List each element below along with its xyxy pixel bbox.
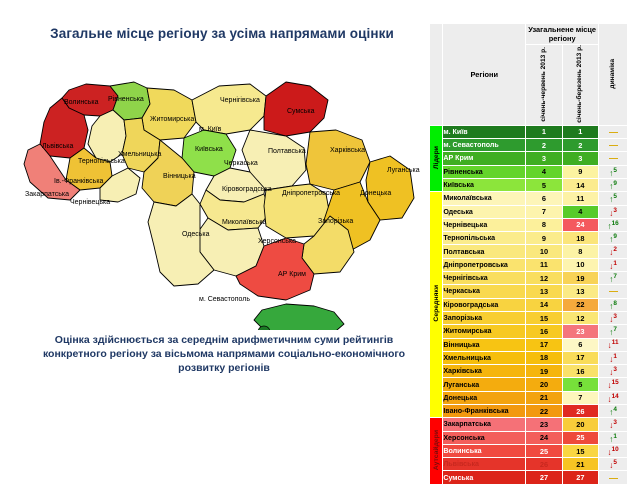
rank-jan-mar-cell: 6 xyxy=(562,338,598,351)
rank-jan-jun-cell: 13 xyxy=(526,285,562,298)
region-name-cell[interactable]: Рівненська xyxy=(443,165,526,178)
rank-jan-mar-cell: 20 xyxy=(562,418,598,431)
group-label-0: Лідери xyxy=(430,125,443,191)
rank-jan-mar-cell: 2 xyxy=(562,139,598,152)
dynamics-value: 4 xyxy=(613,406,617,413)
page-title: Загальне місце регіону за усіма напрямам… xyxy=(24,26,420,41)
rank-jan-jun-cell: 22 xyxy=(526,404,562,417)
header-row-1: Регіони Узагальнене місце регіону динамі… xyxy=(430,24,628,45)
rank-jan-jun-cell: 7 xyxy=(526,205,562,218)
rank-jan-jun-cell: 14 xyxy=(526,298,562,311)
dynamics-value: 5 xyxy=(613,167,617,174)
dynamics-cell: ↑9 xyxy=(599,232,628,245)
rank-jan-mar-cell: 10 xyxy=(562,258,598,271)
header-regions: Регіони xyxy=(443,24,526,126)
dynamics-cell: ↓3 xyxy=(599,311,628,324)
rank-jan-jun-cell: 8 xyxy=(526,218,562,231)
header-generalized-place: Узагальнене місце регіону xyxy=(526,24,599,45)
rank-jan-jun-cell: 25 xyxy=(526,444,562,457)
dynamics-cell: ↑5 xyxy=(599,165,628,178)
dynamics-cell: ↓14 xyxy=(599,391,628,404)
dynamics-value: 1 xyxy=(613,433,617,440)
group-label-1: Середняки xyxy=(430,192,443,418)
methodology-note: Оцінка здійснюється за середнім арифмети… xyxy=(22,333,426,375)
table-row[interactable]: Київська514↑9 xyxy=(430,178,628,191)
dynamics-value: 11 xyxy=(612,339,619,346)
dynamics-value: 14 xyxy=(612,393,619,400)
region-name-cell[interactable]: Київська xyxy=(443,178,526,191)
dynamics-cell: ↓3 xyxy=(599,365,628,378)
dynamics-cell: ↑16 xyxy=(599,218,628,231)
dynamics-value: 1 xyxy=(613,353,617,360)
table-head: Регіони Узагальнене місце регіону динамі… xyxy=(430,24,628,126)
region-name-cell[interactable]: Хмельницька xyxy=(443,351,526,364)
ukraine-choropleth-map xyxy=(14,60,426,330)
header-group-spacer xyxy=(430,24,443,126)
dynamics-value: 8 xyxy=(613,300,617,307)
equal-icon: — xyxy=(609,286,617,296)
table-row[interactable]: Черкаська1313— xyxy=(430,285,628,298)
rank-jan-jun-cell: 6 xyxy=(526,192,562,205)
rank-jan-mar-cell: 26 xyxy=(562,404,598,417)
rank-jan-mar-cell: 15 xyxy=(562,444,598,457)
equal-icon: — xyxy=(609,127,617,137)
table-row[interactable]: Херсонська2425↑1 xyxy=(430,431,628,444)
equal-icon: — xyxy=(609,140,617,150)
rank-jan-jun-cell: 27 xyxy=(526,471,562,484)
rank-jan-jun-cell: 2 xyxy=(526,139,562,152)
dynamics-value: 9 xyxy=(613,180,617,187)
dynamics-cell: ↑7 xyxy=(599,272,628,285)
rank-jan-mar-cell: 3 xyxy=(562,152,598,165)
rank-jan-mar-cell: 12 xyxy=(562,311,598,324)
dynamics-value: 3 xyxy=(613,207,617,214)
dynamics-cell: ↓3 xyxy=(599,418,628,431)
table-row[interactable]: Дніпропетровська1110↓1 xyxy=(430,258,628,271)
region-name-cell[interactable]: Одеська xyxy=(443,205,526,218)
dynamics-cell: ↓10 xyxy=(599,444,628,457)
rank-jan-mar-cell: 23 xyxy=(562,325,598,338)
rank-jan-jun-cell: 20 xyxy=(526,378,562,391)
dynamics-value: 9 xyxy=(613,233,617,240)
rank-jan-mar-cell: 21 xyxy=(562,458,598,471)
dynamics-cell: ↓11 xyxy=(599,338,628,351)
dynamics-cell: ↑8 xyxy=(599,298,628,311)
rank-jan-mar-cell: 27 xyxy=(562,471,598,484)
rank-jan-jun-cell: 23 xyxy=(526,418,562,431)
region-ar-krym[interactable] xyxy=(254,304,344,330)
dynamics-cell: ↑5 xyxy=(599,192,628,205)
table-row[interactable]: Волинська2515↓10 xyxy=(430,444,628,457)
rank-jan-jun-cell: 4 xyxy=(526,165,562,178)
region-name-cell[interactable]: Вінницька xyxy=(443,338,526,351)
dynamics-cell: ↑9 xyxy=(599,178,628,191)
table-row[interactable]: Чернігівська1219↑7 xyxy=(430,272,628,285)
rank-jan-jun-cell: 1 xyxy=(526,125,562,138)
dynamics-value: 1 xyxy=(613,260,617,267)
region-name-cell[interactable]: Луганська xyxy=(443,378,526,391)
region-name-cell[interactable]: Херсонська xyxy=(443,431,526,444)
dynamics-value: 5 xyxy=(613,459,617,466)
table-row[interactable]: Полтавська108↓2 xyxy=(430,245,628,258)
rank-jan-mar-cell: 8 xyxy=(562,245,598,258)
rank-jan-mar-cell: 7 xyxy=(562,391,598,404)
region-name-cell[interactable]: Волинська xyxy=(443,444,526,457)
dynamics-value: 2 xyxy=(613,246,617,253)
table-row[interactable]: Івано-Франківська2226↑4 xyxy=(430,404,628,417)
rank-jan-jun-cell: 12 xyxy=(526,272,562,285)
region-name-cell[interactable]: Харківська xyxy=(443,365,526,378)
rank-jan-jun-cell: 16 xyxy=(526,325,562,338)
region-name-cell[interactable]: Миколаївська xyxy=(443,192,526,205)
equal-icon: — xyxy=(609,153,617,163)
region-name-cell[interactable]: Чернівецька xyxy=(443,218,526,231)
rank-jan-jun-cell: 26 xyxy=(526,458,562,471)
table-row[interactable]: Харківська1916↓3 xyxy=(430,365,628,378)
region-name-cell[interactable]: м. Севастополь xyxy=(443,139,526,152)
dynamics-cell: ↑7 xyxy=(599,325,628,338)
region-name-cell[interactable]: Тернопільська xyxy=(443,232,526,245)
rank-jan-mar-cell: 1 xyxy=(562,125,598,138)
dynamics-value: 16 xyxy=(612,220,619,227)
table-row[interactable]: Донецька217↓14 xyxy=(430,391,628,404)
rank-jan-jun-cell: 17 xyxy=(526,338,562,351)
rank-jan-jun-cell: 3 xyxy=(526,152,562,165)
dynamics-cell: — xyxy=(599,471,628,484)
table-row[interactable]: Чернівецька824↑16 xyxy=(430,218,628,231)
table-row[interactable]: м. Севастополь22— xyxy=(430,139,628,152)
table-row[interactable]: Тернопільська918↑9 xyxy=(430,232,628,245)
rank-jan-mar-cell: 4 xyxy=(562,205,598,218)
rank-jan-mar-cell: 5 xyxy=(562,378,598,391)
rank-jan-mar-cell: 22 xyxy=(562,298,598,311)
dynamics-cell: ↓2 xyxy=(599,245,628,258)
table-row[interactable]: Львівська2621↓5 xyxy=(430,458,628,471)
dynamics-cell: — xyxy=(599,125,628,138)
regions-ranking-table: Регіони Узагальнене місце регіону динамі… xyxy=(429,23,628,485)
table-row[interactable]: Рівненська49↑5 xyxy=(430,165,628,178)
table-row[interactable]: Лідерим. Київ11— xyxy=(430,125,628,138)
dynamics-value: 7 xyxy=(613,273,617,280)
rank-jan-mar-cell: 9 xyxy=(562,165,598,178)
rank-jan-mar-cell: 17 xyxy=(562,351,598,364)
header-dynamics: динаміка xyxy=(599,24,628,126)
region-name-cell[interactable]: Закарпатська xyxy=(443,418,526,431)
dynamics-cell: ↓5 xyxy=(599,458,628,471)
region-name-cell[interactable]: Кіровоградська xyxy=(443,298,526,311)
table-row[interactable]: Запорізька1512↓3 xyxy=(430,311,628,324)
region-sumska[interactable] xyxy=(264,82,328,136)
slide-root: Загальне місце регіону за усіма напрямам… xyxy=(0,0,640,452)
rank-jan-mar-cell: 11 xyxy=(562,192,598,205)
region-kharkivska[interactable] xyxy=(306,130,370,190)
dynamics-cell: — xyxy=(599,285,628,298)
dynamics-cell: ↓1 xyxy=(599,351,628,364)
region-name-cell[interactable]: Львівська xyxy=(443,458,526,471)
rank-jan-mar-cell: 24 xyxy=(562,218,598,231)
map-svg xyxy=(14,60,426,330)
region-name-cell[interactable]: Чернігівська xyxy=(443,272,526,285)
rank-jan-jun-cell: 9 xyxy=(526,232,562,245)
table-row[interactable]: Хмельницька1817↓1 xyxy=(430,351,628,364)
group-label-2: Аутсайдери xyxy=(430,418,443,484)
rank-jan-mar-cell: 13 xyxy=(562,285,598,298)
region-ternopilska[interactable] xyxy=(88,110,126,162)
table-row[interactable]: СереднякиМиколаївська611↑5 xyxy=(430,192,628,205)
region-name-cell[interactable]: Івано-Франківська xyxy=(443,404,526,417)
rank-jan-jun-cell: 24 xyxy=(526,431,562,444)
region-name-cell[interactable]: Полтавська xyxy=(443,245,526,258)
table-row[interactable]: АР Крим33— xyxy=(430,152,628,165)
rank-jan-jun-cell: 18 xyxy=(526,351,562,364)
rank-jan-mar-cell: 19 xyxy=(562,272,598,285)
region-name-cell[interactable]: Сумська xyxy=(443,471,526,484)
dynamics-cell: ↓1 xyxy=(599,258,628,271)
dynamics-value: 3 xyxy=(613,366,617,373)
header-period-1-label: січень-червень 2013 р. xyxy=(540,47,548,122)
table-row[interactable]: Вінницька176↓11 xyxy=(430,338,628,351)
region-name-cell[interactable]: м. Київ xyxy=(443,125,526,138)
rank-jan-mar-cell: 25 xyxy=(562,431,598,444)
dynamics-value: 3 xyxy=(613,419,617,426)
rank-jan-jun-cell: 19 xyxy=(526,365,562,378)
region-name-cell[interactable]: Черкаська xyxy=(443,285,526,298)
table-row[interactable]: Одеська74↓3 xyxy=(430,205,628,218)
region-chernihivska[interactable] xyxy=(192,84,266,134)
region-zhytomyrska[interactable] xyxy=(142,88,196,140)
table-row[interactable]: Сумська2727— xyxy=(430,471,628,484)
dynamics-cell: ↓15 xyxy=(599,378,628,391)
dynamics-cell: ↑4 xyxy=(599,404,628,417)
header-period-1: січень-червень 2013 р. xyxy=(526,45,562,126)
rank-jan-mar-cell: 18 xyxy=(562,232,598,245)
dynamics-value: 5 xyxy=(613,193,617,200)
region-name-cell[interactable]: Запорізька xyxy=(443,311,526,324)
region-name-cell[interactable]: АР Крим xyxy=(443,152,526,165)
rank-jan-jun-cell: 15 xyxy=(526,311,562,324)
equal-icon: — xyxy=(609,473,617,483)
region-name-cell[interactable]: Донецька xyxy=(443,391,526,404)
dynamics-value: 3 xyxy=(613,313,617,320)
dynamics-cell: — xyxy=(599,152,628,165)
rank-jan-jun-cell: 5 xyxy=(526,178,562,191)
rank-jan-mar-cell: 14 xyxy=(562,178,598,191)
rank-jan-jun-cell: 21 xyxy=(526,391,562,404)
region-name-cell[interactable]: Дніпропетровська xyxy=(443,258,526,271)
rank-jan-jun-cell: 11 xyxy=(526,258,562,271)
rank-jan-mar-cell: 16 xyxy=(562,365,598,378)
rank-jan-jun-cell: 10 xyxy=(526,245,562,258)
table-body: Лідерим. Київ11—м. Севастополь22—АР Крим… xyxy=(430,125,628,484)
dynamics-cell: ↑1 xyxy=(599,431,628,444)
table-row[interactable]: АутсайдериЗакарпатська2320↓3 xyxy=(430,418,628,431)
header-period-2-label: січень-березень 2013 р. xyxy=(576,45,584,123)
dynamics-value: 15 xyxy=(612,379,619,386)
dynamics-cell: — xyxy=(599,139,628,152)
dynamics-value: 7 xyxy=(613,326,617,333)
table-row[interactable]: Житомирська1623↑7 xyxy=(430,325,628,338)
table-row[interactable]: Кіровоградська1422↑8 xyxy=(430,298,628,311)
header-period-2: січень-березень 2013 р. xyxy=(562,45,598,126)
table-row[interactable]: Луганська205↓15 xyxy=(430,378,628,391)
dynamics-cell: ↓3 xyxy=(599,205,628,218)
header-dynamics-label: динаміка xyxy=(609,59,617,89)
region-name-cell[interactable]: Житомирська xyxy=(443,325,526,338)
